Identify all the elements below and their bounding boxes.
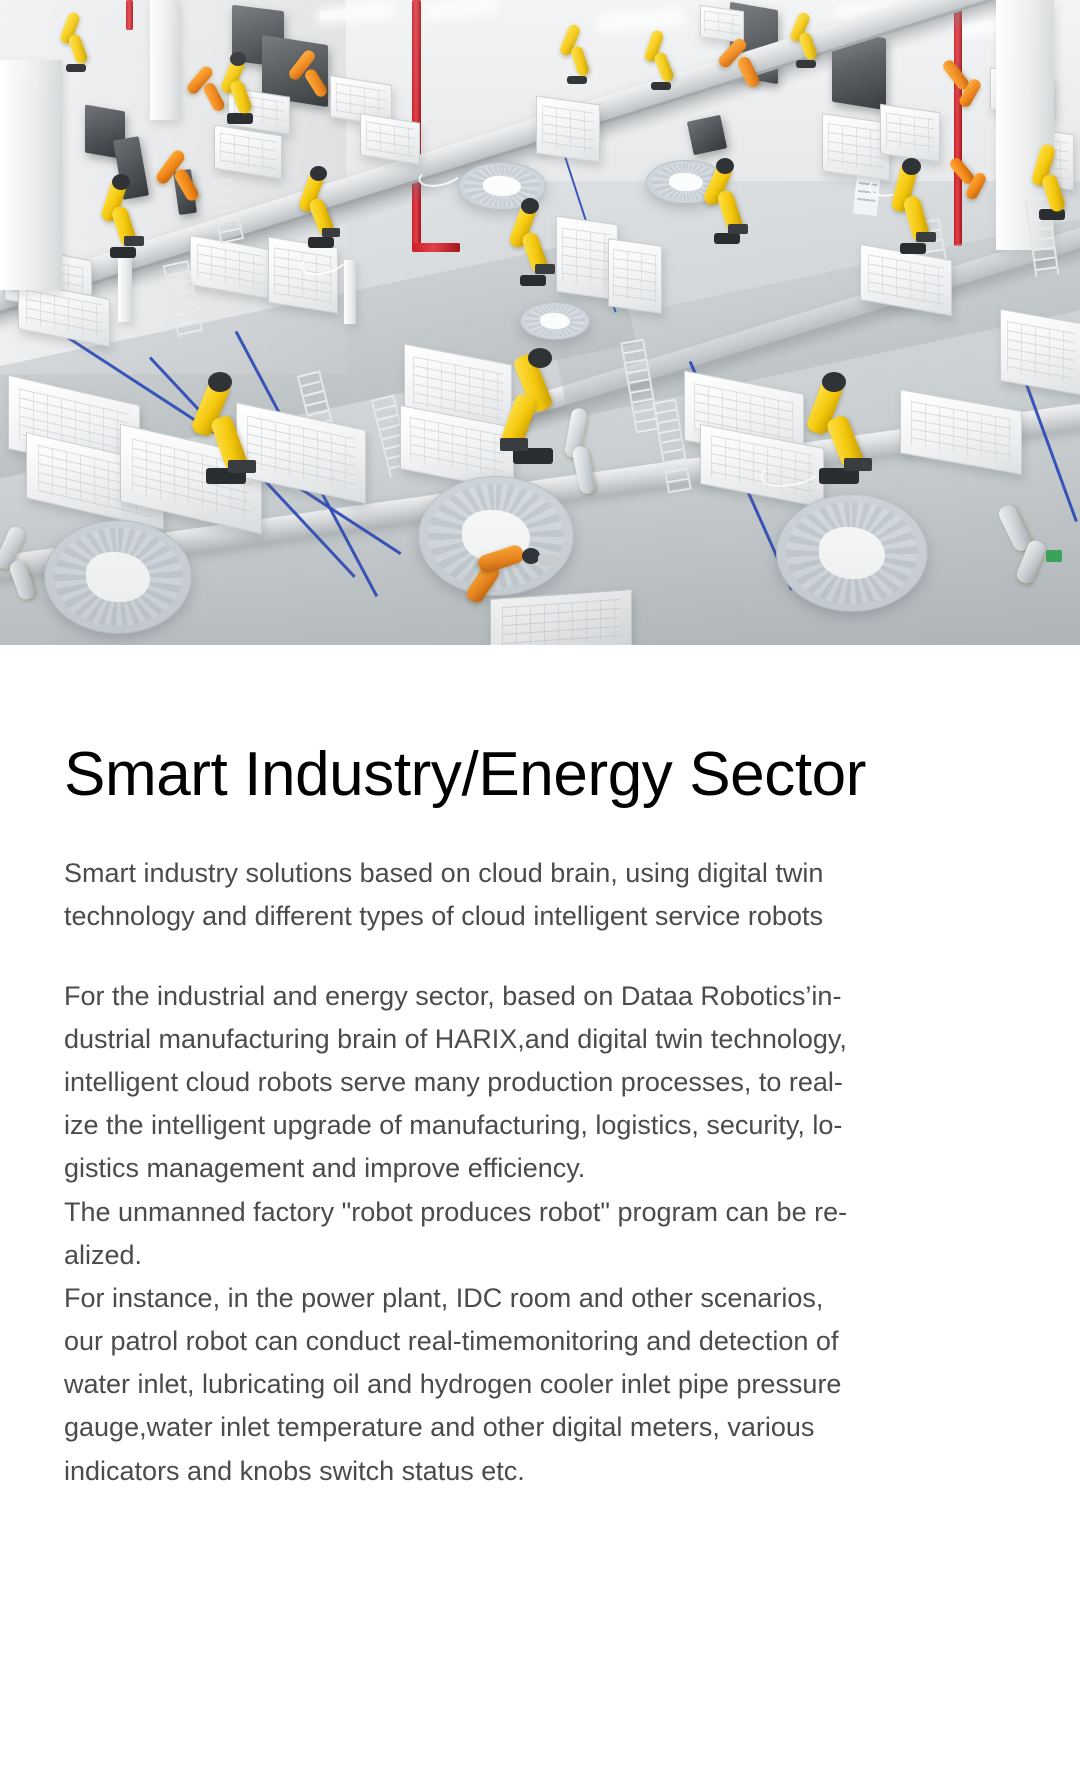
robot-fore-arm: [570, 45, 591, 77]
robot-base: [520, 275, 546, 286]
support-pillar: [344, 260, 356, 324]
content-section: Smart Industry/Energy Sector Smart indus…: [0, 645, 1080, 1493]
robot-arm: [950, 150, 996, 208]
robot-arm: [96, 172, 150, 258]
robot-base: [1039, 209, 1065, 220]
storage-crate: [880, 104, 940, 162]
factory-scene: [0, 0, 1080, 645]
robot-arm: [188, 58, 238, 118]
robot-end-effector: [916, 232, 936, 242]
body-line: gauge,water inlet temperature and other …: [64, 1406, 882, 1449]
robot-end-effector: [538, 554, 558, 566]
turntable-disc: [44, 520, 192, 634]
robot-fore-arm: [571, 445, 597, 495]
robot-base: [567, 76, 587, 84]
storage-crate: [608, 238, 662, 314]
robot-end-effector: [844, 458, 872, 471]
robot-joint: [310, 166, 327, 181]
body-line: indicators and knobs switch status etc.: [64, 1450, 882, 1493]
robot-end-effector: [728, 224, 748, 234]
robot-arm: [0, 520, 56, 606]
safety-pipe: [954, 0, 962, 246]
robot-arm: [556, 22, 598, 84]
robot-joint: [716, 158, 734, 174]
robot-fore-arm: [736, 55, 762, 89]
robot-joint: [521, 198, 539, 214]
robot-arm: [556, 404, 608, 502]
storage-crate: [1000, 309, 1080, 395]
robot-joint: [528, 348, 552, 368]
robot-arm: [992, 496, 1066, 592]
safety-pipe: [412, 243, 460, 252]
robot-base: [308, 237, 334, 248]
robot-joint: [112, 174, 130, 190]
robot-fore-arm: [303, 67, 329, 99]
support-pillar: [150, 0, 180, 120]
robot-arm: [158, 138, 214, 210]
robot-end-effector: [228, 460, 256, 473]
page-title: Smart Industry/Energy Sector: [64, 645, 1016, 806]
robot-arm: [720, 30, 774, 96]
body-line: ize the intelligent upgrade of manufactu…: [64, 1104, 882, 1147]
robot-base: [900, 243, 926, 254]
robot-base: [110, 247, 136, 258]
storage-crate: [900, 389, 1022, 475]
robot-arm: [700, 158, 754, 244]
conveyor-module: [490, 589, 632, 645]
robot-base: [66, 64, 86, 72]
robot-fore-arm: [653, 51, 675, 83]
robot-end-effector: [535, 264, 555, 274]
robot-arm: [944, 52, 992, 116]
robot-fore-arm: [8, 558, 38, 601]
body-line: water inlet, lubricating oil and hydroge…: [64, 1363, 882, 1406]
body-line: For the industrial and energy sector, ba…: [64, 975, 882, 1018]
body-paragraph: For the industrial and energy sector, ba…: [64, 939, 882, 1493]
body-line: our patrol robot can conduct real-timemo…: [64, 1320, 882, 1363]
robot-joint: [822, 372, 846, 392]
robot-arm: [290, 42, 340, 106]
body-line: The unmanned factory "robot produces rob…: [64, 1191, 882, 1234]
robot-end-effector: [500, 438, 528, 451]
robot-fore-arm: [476, 543, 525, 574]
hero-image: [0, 0, 1080, 645]
robot-fore-arm: [1040, 173, 1066, 214]
robot-base: [651, 82, 671, 90]
robot-base: [714, 233, 740, 244]
machine-panel: [687, 115, 727, 155]
body-line: gistics management and improve efficienc…: [64, 1147, 882, 1190]
body-line: For instance, in the power plant, IDC ro…: [64, 1277, 882, 1320]
robot-fore-arm: [67, 33, 89, 65]
robot-arm: [56, 10, 96, 72]
robot-end-effector: [124, 236, 144, 246]
robot-arm: [786, 10, 826, 68]
robot-arm: [296, 166, 346, 248]
robot-arm: [466, 528, 570, 604]
robot-fore-arm: [798, 31, 819, 61]
robot-base: [796, 60, 816, 68]
body-line: intelligent cloud robots serve many prod…: [64, 1061, 882, 1104]
robot-arm: [1028, 140, 1076, 220]
safety-pipe: [126, 0, 133, 30]
robot-joint: [208, 372, 232, 392]
support-pillar: [118, 252, 132, 322]
turntable-disc: [776, 494, 928, 612]
robot-fore-arm: [172, 167, 200, 203]
body-line: alized.: [64, 1234, 882, 1277]
body-line: dustrial manufacturing brain of HARIX,an…: [64, 1018, 882, 1061]
robot-arm: [800, 372, 878, 484]
robot-joint: [902, 158, 921, 175]
support-pillar: [0, 60, 62, 290]
robot-arm: [640, 28, 682, 90]
robot-arm: [505, 198, 561, 286]
robot-fore-arm: [202, 81, 227, 113]
robot-arm: [188, 372, 264, 484]
robot-end-effector: [1046, 550, 1062, 562]
turntable-disc: [520, 302, 590, 340]
lead-paragraph: Smart industry solutions based on cloud …: [64, 806, 864, 938]
robot-arm: [884, 158, 942, 254]
robot-end-effector: [322, 228, 340, 237]
storage-crate: [536, 96, 600, 163]
